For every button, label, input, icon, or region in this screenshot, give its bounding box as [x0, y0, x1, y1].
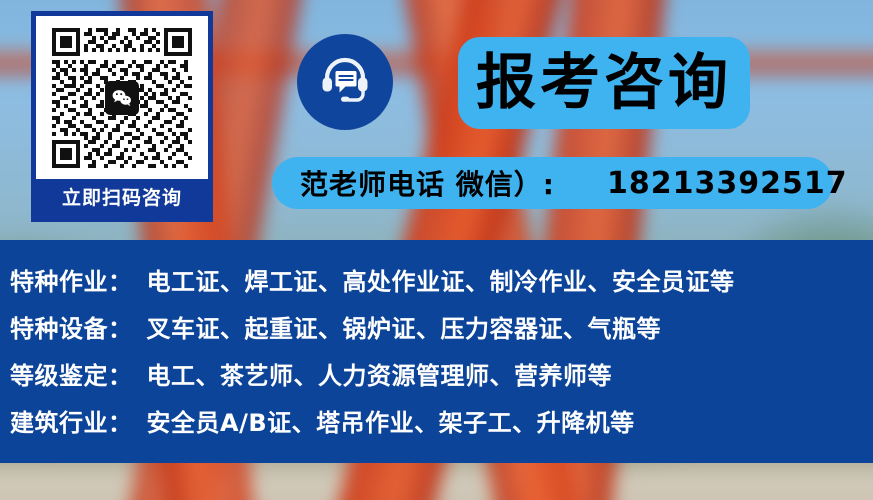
page-title: 报考咨询	[476, 53, 732, 113]
category-label: 特种设备：	[10, 309, 133, 344]
qr-code-card[interactable]: 立即扫码咨询	[31, 11, 213, 222]
category-value: 电工证、焊工证、高处作业证、制冷作业、安全员证等	[147, 262, 735, 297]
category-label: 特种作业：	[10, 262, 133, 297]
category-label: 等级鉴定：	[10, 356, 133, 391]
headset-chat-icon	[314, 49, 376, 115]
category-value: 安全员A/B证、塔吊作业、架子工、升降机等	[147, 403, 635, 438]
contact-label: 范老师电话 微信）:	[300, 163, 555, 203]
list-item: 建筑行业： 安全员A/B证、塔吊作业、架子工、升降机等	[10, 403, 873, 438]
qr-card-caption: 立即扫码咨询	[36, 179, 208, 217]
contact-phone-pill[interactable]: 范老师电话 微信）: 18213392517	[272, 157, 833, 209]
category-value: 电工、茶艺师、人力资源管理师、营养师等	[147, 356, 613, 391]
list-item: 特种设备： 叉车证、起重证、锅炉证、压力容器证、气瓶等	[10, 309, 873, 344]
headset-chat-badge[interactable]	[297, 34, 393, 130]
contact-phone-number[interactable]: 18213392517	[607, 166, 848, 201]
category-label: 建筑行业：	[10, 403, 133, 438]
poster-root: 立即扫码咨询 报考咨询 范老师电话 微信）: 18213392517	[0, 0, 873, 500]
list-item: 特种作业： 电工证、焊工证、高处作业证、制冷作业、安全员证等	[10, 262, 873, 297]
list-item: 等级鉴定： 电工、茶艺师、人力资源管理师、营养师等	[10, 356, 873, 391]
course-category-panel: 特种作业： 电工证、焊工证、高处作业证、制冷作业、安全员证等 特种设备： 叉车证…	[0, 240, 873, 463]
category-value: 叉车证、起重证、锅炉证、压力容器证、气瓶等	[147, 309, 662, 344]
title-pill: 报考咨询	[458, 37, 750, 129]
qr-code-image-area	[36, 16, 208, 179]
wechat-icon	[105, 81, 139, 115]
